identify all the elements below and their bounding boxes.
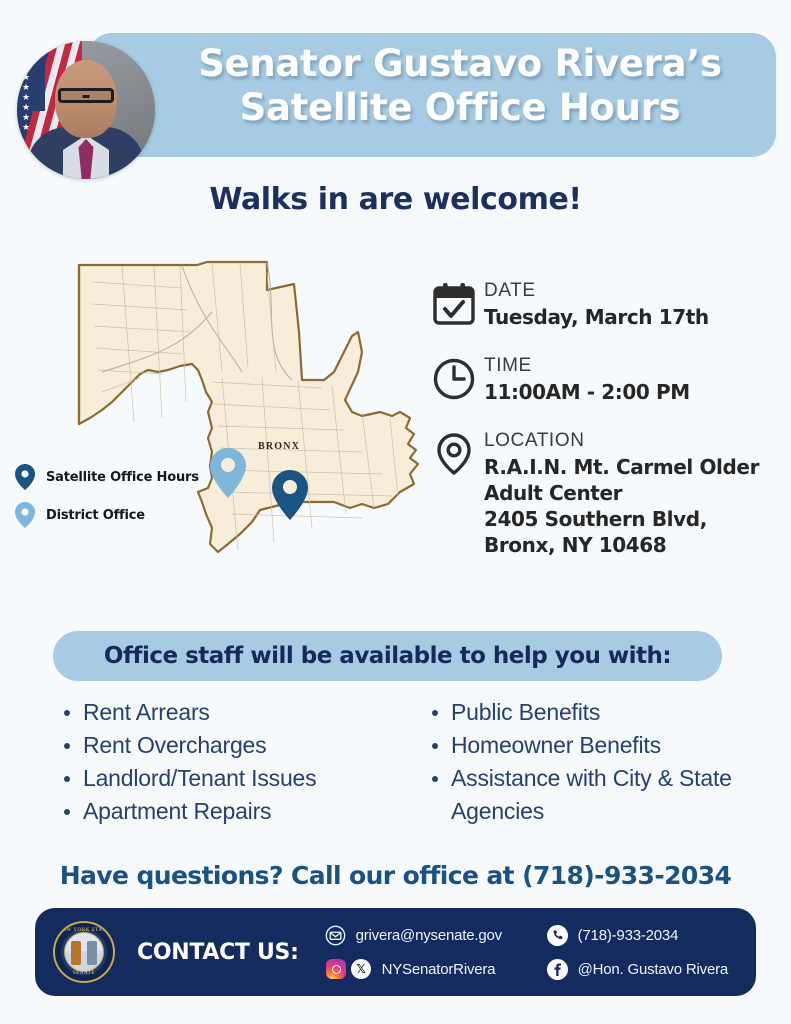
services-list: Rent Arrears Rent Overcharges Landlord/T… bbox=[64, 696, 764, 828]
subheadline: Walks in are welcome! bbox=[0, 182, 791, 217]
detail-value-line: 11:00AM - 2:00 PM bbox=[484, 379, 772, 405]
map-label-bronx: BRONX bbox=[258, 441, 300, 452]
instagram-icon bbox=[326, 959, 346, 979]
detail-value-time: 11:00AM - 2:00 PM bbox=[484, 379, 772, 405]
list-item-label: Homeowner Benefits bbox=[451, 729, 661, 762]
contact-facebook-text: @Hon. Gustavo Rivera bbox=[578, 961, 728, 978]
contact-item-social-handles[interactable]: 𝕏 NYSenatorRivera bbox=[325, 958, 547, 980]
list-item: Landlord/Tenant Issues bbox=[64, 762, 414, 795]
page-title: Senator Gustavo Rivera’s Satellite Offic… bbox=[150, 42, 770, 130]
contact-social-text: NYSenatorRivera bbox=[382, 961, 496, 978]
contact-us-label: CONTACT US: bbox=[137, 940, 299, 965]
map-pin-icon bbox=[14, 501, 36, 529]
services-banner: Office staff will be available to help y… bbox=[53, 631, 722, 681]
page-title-line2: Satellite Office Hours bbox=[150, 86, 770, 130]
questions-line: Have questions? Call our office at (718)… bbox=[0, 861, 791, 890]
flag-stars: ★ ★ ★★ ★★ ★ ★ bbox=[19, 49, 45, 111]
list-item-label: Rent Arrears bbox=[83, 696, 210, 729]
list-item: Homeowner Benefits bbox=[432, 729, 764, 762]
bullet-icon bbox=[64, 776, 70, 782]
senator-headshot: ★ ★ ★★ ★★ ★ ★ bbox=[17, 41, 155, 179]
list-item: Rent Arrears bbox=[64, 696, 414, 729]
email-icon bbox=[325, 924, 347, 946]
detail-value-date: Tuesday, March 17th bbox=[484, 304, 772, 330]
detail-value-line: Adult Center bbox=[484, 480, 772, 506]
facebook-icon bbox=[547, 958, 569, 980]
contact-email-text: grivera@nysenate.gov bbox=[356, 927, 502, 944]
bullet-icon bbox=[64, 743, 70, 749]
list-item: Rent Overcharges bbox=[64, 729, 414, 762]
services-banner-text: Office staff will be available to help y… bbox=[104, 643, 671, 669]
detail-row-date: DATE Tuesday, March 17th bbox=[432, 278, 772, 331]
detail-label-date: DATE bbox=[484, 280, 772, 302]
list-item-label: Public Benefits bbox=[451, 696, 600, 729]
page-title-line1: Senator Gustavo Rivera’s bbox=[198, 42, 722, 85]
bullet-icon bbox=[64, 710, 70, 716]
detail-label-time: TIME bbox=[484, 355, 772, 377]
district-map-svg bbox=[62, 252, 434, 592]
contact-phone-text: (718)-933-2034 bbox=[578, 927, 679, 944]
map-pin-satellite-office-hours bbox=[272, 470, 308, 520]
bullet-icon bbox=[432, 776, 438, 782]
legend-item-district-office: District Office bbox=[14, 496, 244, 534]
detail-label-location: LOCATION bbox=[484, 430, 772, 452]
contact-footer: NEW YORK STATE SENATE CONTACT US: griver… bbox=[35, 908, 756, 996]
legend-label: Satellite Office Hours bbox=[46, 470, 199, 485]
contact-item-facebook[interactable]: @Hon. Gustavo Rivera bbox=[547, 958, 742, 980]
map-legend: Satellite Office Hours District Office bbox=[14, 458, 244, 534]
detail-value-line: Bronx, NY 10468 bbox=[484, 532, 772, 558]
bullet-icon bbox=[432, 710, 438, 716]
seal-bottom-text: SENATE bbox=[55, 971, 113, 976]
list-item-label: Apartment Repairs bbox=[83, 795, 271, 828]
detail-value-line: Tuesday, March 17th bbox=[484, 304, 772, 330]
x-twitter-icon: 𝕏 bbox=[351, 959, 371, 979]
services-column-right: Public Benefits Homeowner Benefits Assis… bbox=[414, 696, 764, 828]
instagram-x-icon: 𝕏 bbox=[325, 958, 373, 980]
map-pin-icon bbox=[14, 463, 36, 491]
list-item-label: Landlord/Tenant Issues bbox=[83, 762, 316, 795]
detail-value-line: R.A.I.N. Mt. Carmel Older bbox=[484, 454, 772, 480]
legend-item-satellite-office-hours: Satellite Office Hours bbox=[14, 458, 244, 496]
contact-item-email[interactable]: grivera@nysenate.gov bbox=[325, 924, 547, 946]
detail-value-location: R.A.I.N. Mt. Carmel Older Adult Center 2… bbox=[484, 454, 772, 558]
detail-row-location: LOCATION R.A.I.N. Mt. Carmel Older Adult… bbox=[432, 428, 772, 558]
calendar-check-icon bbox=[432, 278, 484, 331]
location-pin-icon bbox=[432, 428, 484, 481]
list-item: Assistance with City & State Agencies bbox=[432, 762, 764, 828]
list-item-label: Assistance with City & State Agencies bbox=[451, 762, 764, 828]
list-item-label: Rent Overcharges bbox=[83, 729, 266, 762]
detail-row-time: TIME 11:00AM - 2:00 PM bbox=[432, 353, 772, 406]
phone-icon bbox=[547, 924, 569, 946]
bullet-icon bbox=[432, 743, 438, 749]
flyer-page: Senator Gustavo Rivera’s Satellite Offic… bbox=[0, 0, 791, 1024]
ny-state-senate-seal: NEW YORK STATE SENATE bbox=[53, 921, 115, 983]
event-details: DATE Tuesday, March 17th TIME 11:00AM - … bbox=[432, 278, 772, 580]
bullet-icon bbox=[64, 809, 70, 815]
list-item: Apartment Repairs bbox=[64, 795, 414, 828]
seal-emblem bbox=[64, 932, 104, 972]
legend-label: District Office bbox=[46, 508, 145, 523]
district-map bbox=[62, 252, 434, 592]
services-column-left: Rent Arrears Rent Overcharges Landlord/T… bbox=[64, 696, 414, 828]
contact-items: grivera@nysenate.gov (718)-933-2034 𝕏 bbox=[325, 918, 742, 986]
contact-item-phone[interactable]: (718)-933-2034 bbox=[547, 924, 742, 946]
detail-value-line: 2405 Southern Blvd, bbox=[484, 506, 772, 532]
clock-icon bbox=[432, 353, 484, 406]
list-item: Public Benefits bbox=[432, 696, 764, 729]
headshot-glasses bbox=[58, 88, 114, 103]
